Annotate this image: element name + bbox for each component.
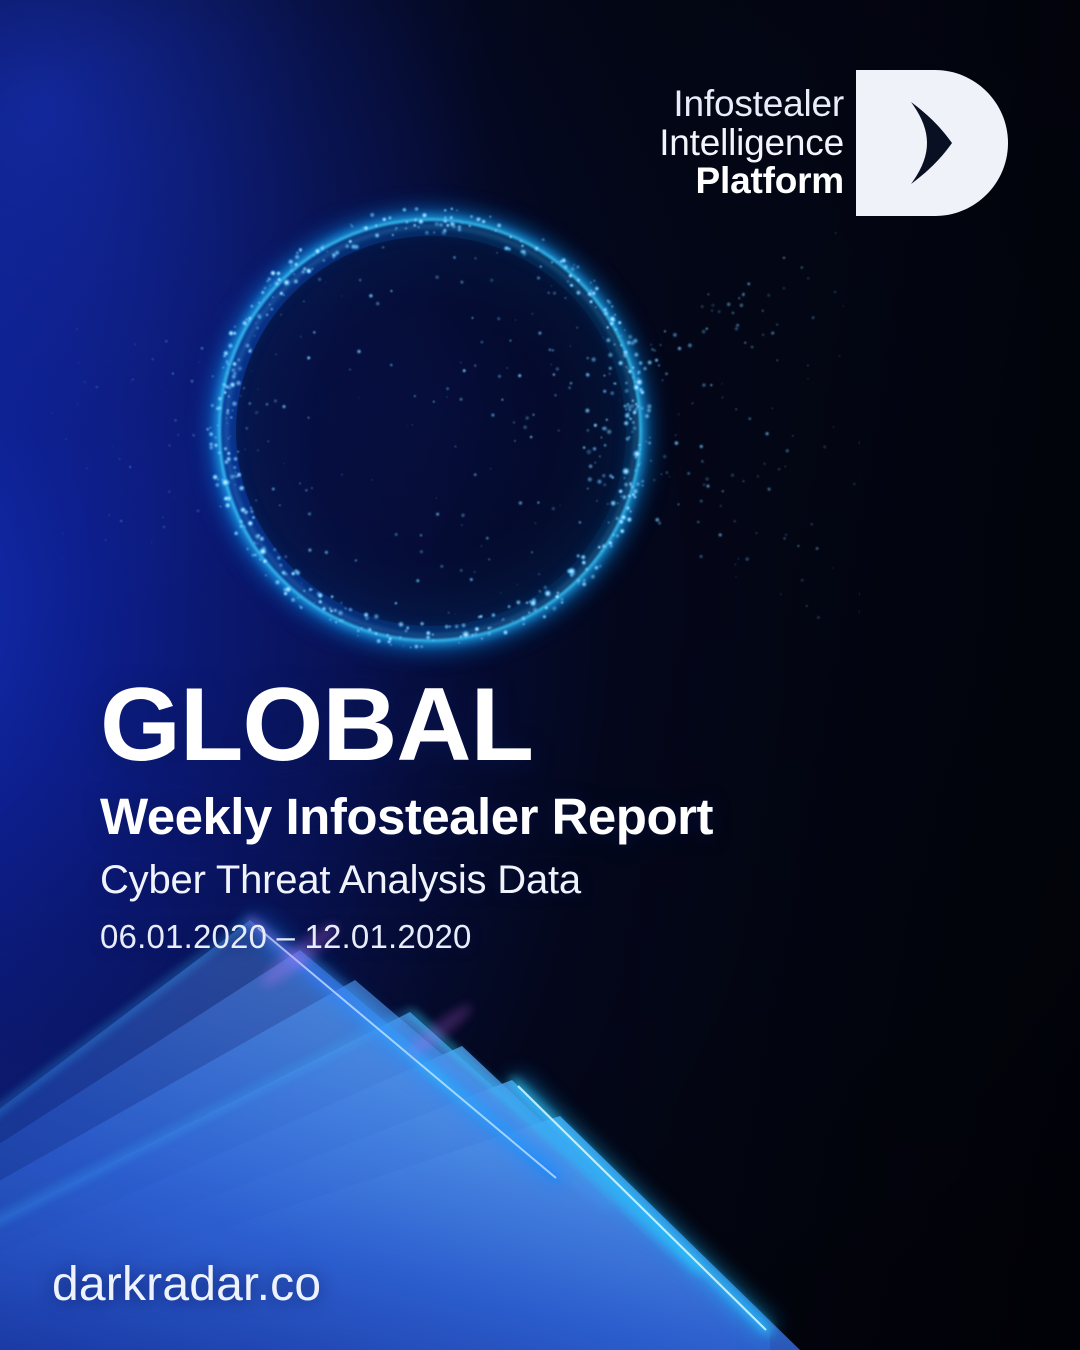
title-block: GLOBAL Weekly Infostealer Report Cyber T… — [100, 676, 960, 955]
footer-website[interactable]: darkradar.co — [52, 1257, 321, 1312]
darkradar-d-logo-icon — [856, 70, 1008, 216]
logo-line-intelligence: Intelligence — [659, 124, 844, 162]
report-date-range: 06.01.2020 – 12.01.2020 — [100, 920, 960, 955]
page-description: Cyber Threat Analysis Data — [100, 859, 960, 901]
page-title: GLOBAL — [100, 676, 960, 776]
report-cover-poster: Infostealer Intelligence Platform GLOBAL… — [0, 0, 1080, 1350]
brand-logo-lockup: Infostealer Intelligence Platform — [659, 70, 1008, 216]
page-subtitle: Weekly Infostealer Report — [100, 790, 960, 843]
brand-logo-text: Infostealer Intelligence Platform — [659, 85, 844, 200]
logo-line-infostealer: Infostealer — [659, 85, 844, 123]
logo-line-platform: Platform — [659, 162, 844, 200]
